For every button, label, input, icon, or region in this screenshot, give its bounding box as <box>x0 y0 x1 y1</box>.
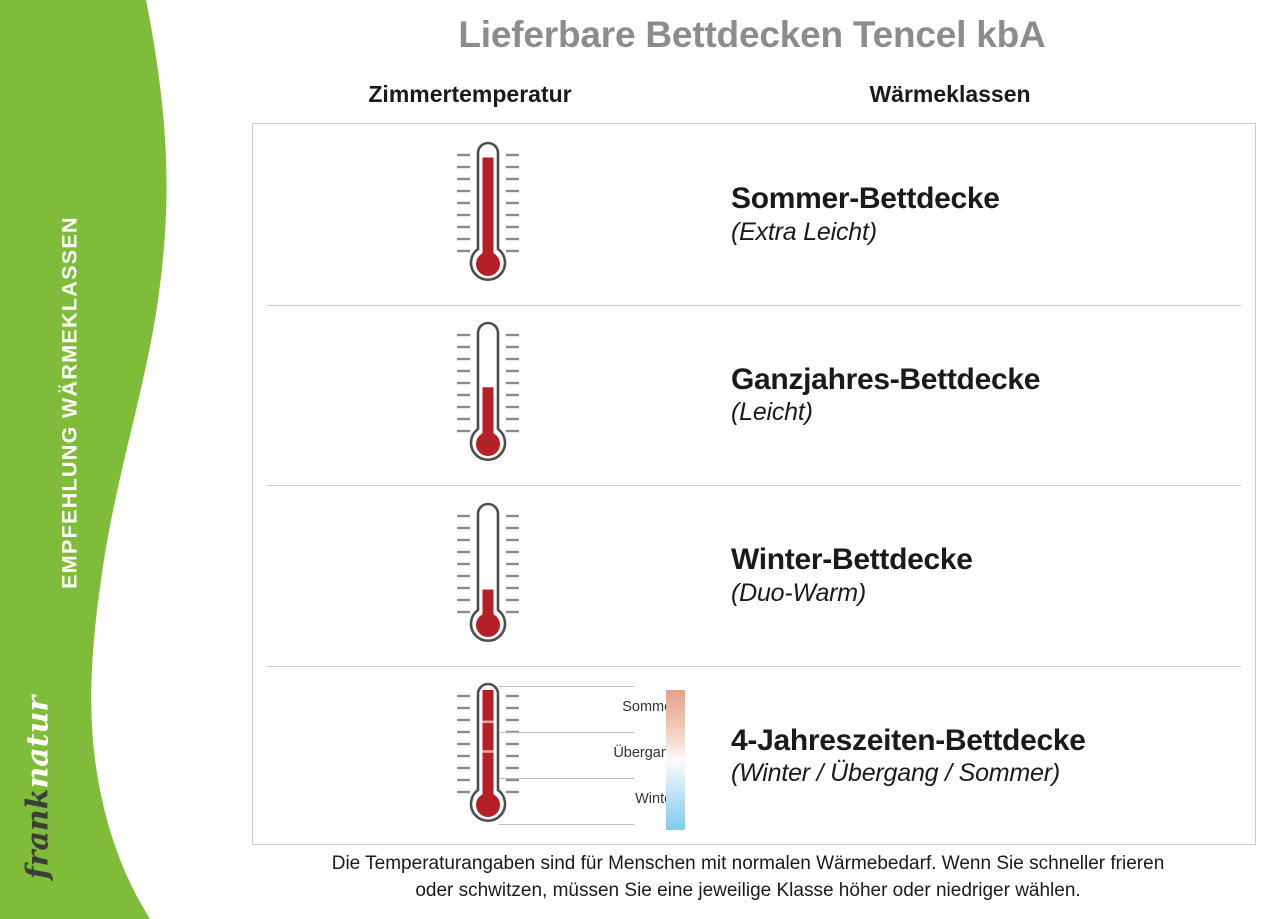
warmth-class-subtitle: (Extra Leicht) <box>731 218 1255 247</box>
temperature-gradient-bar <box>666 690 685 830</box>
temperature-cell <box>253 485 723 666</box>
table-row: Winter-Bettdecke (Duo-Warm) <box>253 485 1255 666</box>
thermometer-wrap <box>453 498 523 653</box>
warmth-class-cell: 4-Jahreszeiten-Bettdecke (Winter / Überg… <box>723 724 1255 788</box>
temperature-cell <box>253 124 723 305</box>
warmth-class-cell: Winter-Bettdecke (Duo-Warm) <box>723 543 1255 607</box>
warmth-class-table: Sommer-Bettdecke (Extra Leicht) Ganzjahr… <box>252 123 1256 845</box>
scale-divider <box>499 686 634 687</box>
logo-word-frank: frank <box>21 789 56 880</box>
thermometer-graphic <box>453 317 523 467</box>
warmth-class-subtitle: (Duo-Warm) <box>731 579 1255 608</box>
temperature-cell: Sommer Übergang Winter <box>253 666 723 847</box>
scale-divider <box>499 824 634 825</box>
thermometer-wrap <box>453 137 523 292</box>
column-header-temperature: Zimmertemperatur <box>310 81 630 108</box>
thermometer-graphic <box>453 498 523 648</box>
thermometer-graphic <box>453 137 523 287</box>
footer-line-2: oder schwitzen, müssen Sie eine jeweilig… <box>415 880 1080 901</box>
warmth-class-cell: Ganzjahres-Bettdecke (Leicht) <box>723 363 1255 427</box>
warmth-class-title: Ganzjahres-Bettdecke <box>731 363 1255 397</box>
footer-note: Die Temperaturangaben sind für Menschen … <box>240 851 1256 905</box>
thermometer-wrap <box>453 317 523 472</box>
temperature-cell <box>253 305 723 486</box>
sidebar-vertical-label: EMPFEHLUNG WÄRMEKLASSEN <box>58 143 83 663</box>
scale-divider <box>499 778 634 779</box>
warmth-class-subtitle: (Winter / Übergang / Sommer) <box>731 759 1255 788</box>
warmth-class-subtitle: (Leicht) <box>731 398 1255 427</box>
season-scale: Sommer Übergang Winter <box>499 686 685 834</box>
logo-word-natur: natur <box>21 696 56 789</box>
footer-line-1: Die Temperaturangaben sind für Menschen … <box>332 853 1165 874</box>
table-row: Sommer Übergang Winter 4-Jahreszeiten-Be… <box>253 666 1255 847</box>
scale-divider <box>499 732 634 733</box>
warmth-class-cell: Sommer-Bettdecke (Extra Leicht) <box>723 182 1255 246</box>
column-header-classes: Wärmeklassen <box>790 81 1110 108</box>
warmth-class-title: Winter-Bettdecke <box>731 543 1255 577</box>
page-title: Lieferbare Bettdecken Tencel kbA <box>252 14 1252 56</box>
table-row: Sommer-Bettdecke (Extra Leicht) <box>253 124 1255 305</box>
brand-logo: franknatur <box>21 688 56 888</box>
warmth-class-title: Sommer-Bettdecke <box>731 182 1255 216</box>
table-row: Ganzjahres-Bettdecke (Leicht) <box>253 305 1255 486</box>
warmth-class-title: 4-Jahreszeiten-Bettdecke <box>731 724 1255 758</box>
infographic-page: EMPFEHLUNG WÄRMEKLASSEN franknatur Liefe… <box>0 0 1266 919</box>
